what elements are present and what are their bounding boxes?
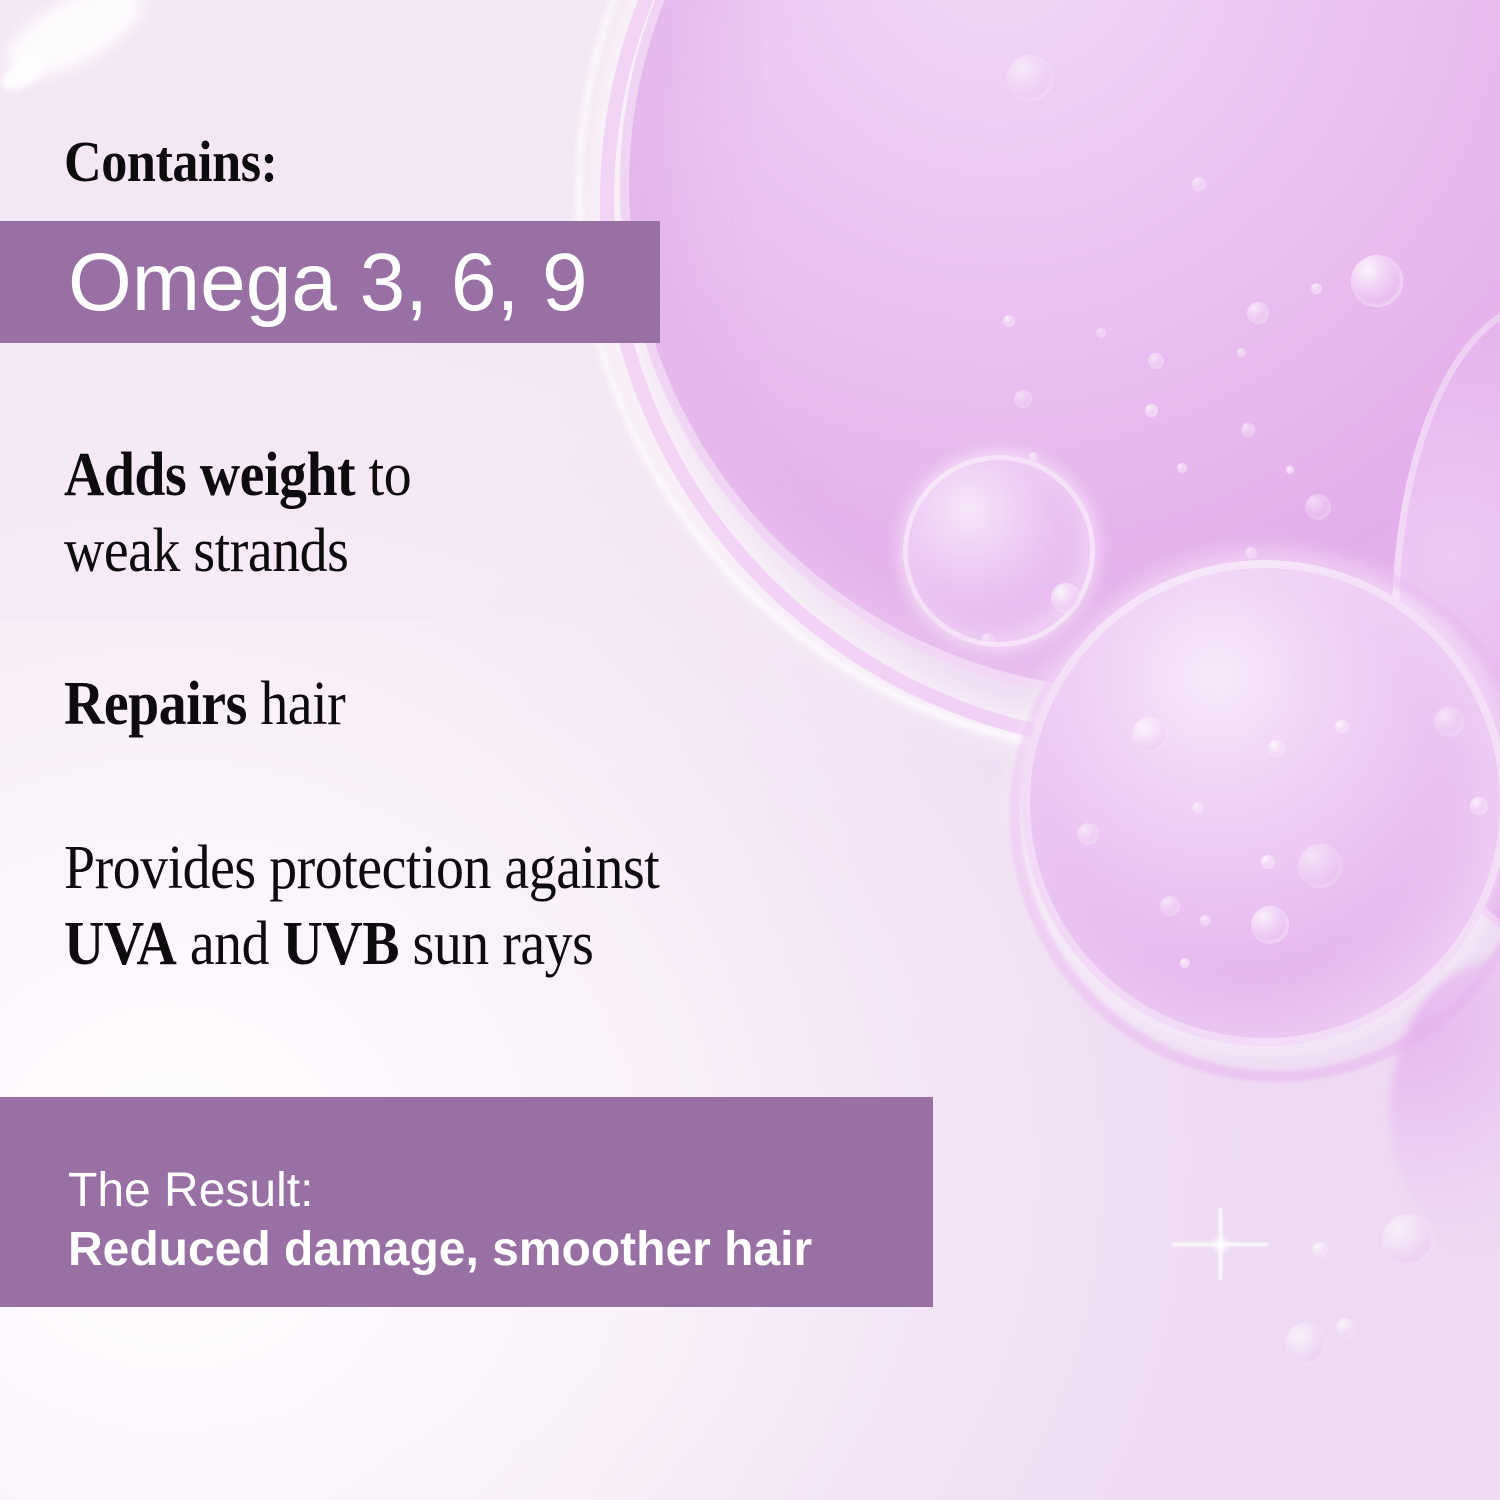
benefit-1-bold: Adds weight: [64, 441, 355, 509]
promo-card: Contains: Omega 3, 6, 9 Adds weight to w…: [0, 0, 1500, 1500]
protection-line-1: Provides protection against: [64, 834, 659, 902]
contains-label: Contains:: [64, 133, 277, 191]
result-label: The Result:: [68, 1163, 313, 1219]
omega-highlight-text: Omega 3, 6, 9: [68, 238, 588, 328]
protection-and: and: [176, 910, 282, 978]
benefit-item-uv-protection: Provides protection againstUVA and UVB s…: [64, 830, 659, 982]
benefit-item-repairs: Repairs hair: [64, 666, 345, 742]
benefit-item-adds-weight: Adds weight to weak strands: [64, 437, 411, 589]
result-value: Reduced damage, smoother hair: [68, 1222, 812, 1278]
benefit-2-bold: Repairs: [64, 670, 247, 738]
benefit-2-rest: hair: [247, 670, 345, 738]
copy-layer: Contains: Omega 3, 6, 9 Adds weight to w…: [0, 0, 1500, 1500]
protection-uva: UVA: [64, 910, 176, 978]
protection-uvb: UVB: [283, 910, 399, 978]
protection-tail: sun rays: [399, 910, 593, 978]
